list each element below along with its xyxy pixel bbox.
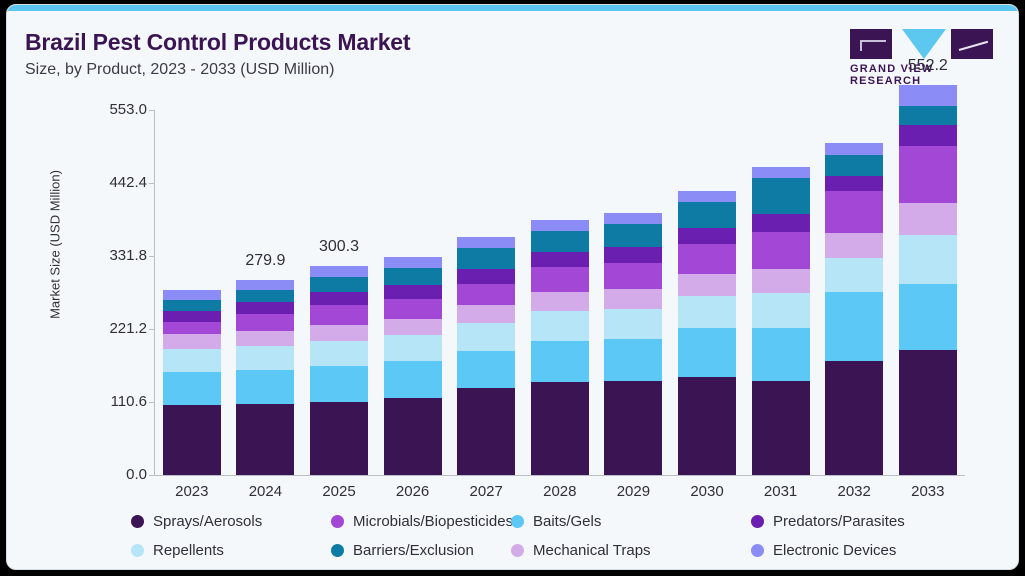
bar-segment[interactable] [531,382,589,475]
bar-segment[interactable] [236,280,294,290]
bar-segment[interactable] [457,351,515,388]
legend-item-label: Microbials/Biopesticides [353,513,513,530]
bar-segment[interactable] [752,232,810,268]
bar-segment[interactable] [678,274,736,296]
bar-segment[interactable] [457,248,515,269]
bar-segment[interactable] [752,293,810,328]
stacked-bar[interactable] [678,191,736,475]
bar-segment[interactable] [531,292,589,311]
bar-segment[interactable] [310,305,368,325]
bar-segment[interactable] [899,125,957,147]
chart-legend: Sprays/AerosolsRepellentsMicrobials/Biop… [131,513,931,567]
y-axis-tick-label: 110.6 [51,393,147,410]
bar-segment[interactable] [825,176,883,191]
bar-segment[interactable] [604,381,662,475]
bar-segment[interactable] [899,106,957,125]
bar-segment[interactable] [236,404,294,475]
bar-segment[interactable] [310,277,368,292]
bar-segment[interactable] [163,372,221,405]
legend-item[interactable]: Mechanical Traps [511,542,651,559]
legend-item[interactable]: Repellents [131,542,224,559]
bar-segment[interactable] [163,405,221,475]
legend-item[interactable]: Baits/Gels [511,513,601,530]
bar-segment[interactable] [163,290,221,300]
bar-segment[interactable] [899,146,957,203]
legend-color-swatch-icon [331,515,344,528]
bar-segment[interactable] [384,319,442,335]
x-axis-tick-label: 2033 [878,483,978,500]
bar-segment[interactable] [236,302,294,314]
bar-segment[interactable] [457,305,515,323]
legend-color-swatch-icon [751,544,764,557]
bar-segment[interactable] [457,388,515,475]
bar-segment[interactable] [457,237,515,248]
x-axis-line [154,475,965,476]
stacked-bar[interactable] [457,237,515,475]
stacked-bar[interactable] [236,280,294,475]
legend-item-label: Mechanical Traps [533,542,651,559]
y-axis-tick-mark [149,329,155,330]
legend-item-label: Repellents [153,542,224,559]
legend-item-label: Barriers/Exclusion [353,542,474,559]
bar-segment[interactable] [310,325,368,341]
legend-item[interactable]: Barriers/Exclusion [331,542,474,559]
legend-item[interactable]: Electronic Devices [751,542,896,559]
bar-segment[interactable] [310,266,368,277]
bar-segment[interactable] [604,309,662,339]
bar-segment[interactable] [236,346,294,370]
bar-segment[interactable] [604,224,662,247]
bar-segment[interactable] [384,257,442,268]
bar-segment[interactable] [752,214,810,232]
bar-segment[interactable] [163,349,221,372]
bar-segment[interactable] [752,167,810,178]
stacked-bar[interactable] [531,220,589,475]
bar-segment[interactable] [163,311,221,322]
chart-card: Brazil Pest Control Products Market Size… [6,4,1019,570]
y-axis-tick-mark [149,183,155,184]
bar-value-label: 552.2 [868,57,988,75]
bar-segment[interactable] [163,334,221,349]
bar-segment[interactable] [163,322,221,334]
legend-item[interactable]: Sprays/Aerosols [131,513,262,530]
bar-segment[interactable] [310,292,368,305]
bar-segment[interactable] [384,335,442,361]
bar-segment[interactable] [310,341,368,366]
bar-segment[interactable] [531,267,589,292]
y-axis-tick-label: 221.2 [51,320,147,337]
legend-color-swatch-icon [131,544,144,557]
bar-segment[interactable] [752,269,810,293]
bar-segment[interactable] [604,247,662,263]
bar-segment[interactable] [457,323,515,351]
y-axis-tick-mark [149,475,155,476]
stacked-bar[interactable] [384,257,442,475]
stacked-bar-chart: Market Size (USD Million) 0.0110.6221.23… [7,5,1018,569]
stacked-bar[interactable] [310,266,368,475]
bar-segment[interactable] [384,268,442,285]
y-axis-tick-label: 331.8 [51,247,147,264]
bar-segment[interactable] [604,213,662,224]
bar-segment[interactable] [825,155,883,176]
bar-segment[interactable] [825,143,883,155]
stacked-bar[interactable] [899,85,957,475]
legend-item-label: Predators/Parasites [773,513,905,530]
bar-segment[interactable] [384,398,442,475]
bar-segment[interactable] [163,300,221,311]
bar-segment[interactable] [678,377,736,475]
y-axis-tick-label: 0.0 [51,466,147,483]
legend-item-label: Baits/Gels [533,513,601,530]
bar-segment[interactable] [899,85,957,106]
bar-segment[interactable] [825,361,883,475]
bar-segment[interactable] [752,381,810,475]
stacked-bar[interactable] [604,213,662,475]
bar-segment[interactable] [899,284,957,350]
bar-segment[interactable] [531,220,589,231]
bar-segment[interactable] [678,296,736,328]
bar-segment[interactable] [236,290,294,302]
legend-color-swatch-icon [751,515,764,528]
y-axis-line [154,110,155,476]
bar-segment[interactable] [604,339,662,381]
stacked-bar[interactable] [163,290,221,475]
legend-item[interactable]: Predators/Parasites [751,513,905,530]
bar-segment[interactable] [678,202,736,228]
bar-segment[interactable] [236,314,294,331]
bar-segment[interactable] [604,263,662,289]
bar-segment[interactable] [531,231,589,252]
stacked-bar[interactable] [752,167,810,475]
bar-segment[interactable] [678,328,736,377]
bar-segment[interactable] [678,191,736,202]
bar-segment[interactable] [604,289,662,309]
bar-segment[interactable] [236,331,294,346]
bar-segment[interactable] [825,292,883,361]
bar-segment[interactable] [310,366,368,402]
bar-segment[interactable] [825,258,883,292]
legend-item-label: Electronic Devices [773,542,896,559]
legend-item-label: Sprays/Aerosols [153,513,262,530]
bar-segment[interactable] [825,191,883,233]
bar-segment[interactable] [384,285,442,299]
bar-segment[interactable] [384,299,442,319]
bar-segment[interactable] [752,328,810,381]
bar-segment[interactable] [899,203,957,235]
legend-color-swatch-icon [331,544,344,557]
legend-color-swatch-icon [511,515,524,528]
y-axis-tick-mark [149,256,155,257]
bar-segment[interactable] [457,269,515,284]
legend-item[interactable]: Microbials/Biopesticides [331,513,513,530]
bar-segment[interactable] [678,228,736,244]
bar-segment[interactable] [825,233,883,258]
legend-color-swatch-icon [131,515,144,528]
bar-segment[interactable] [236,370,294,404]
legend-color-swatch-icon [511,544,524,557]
bar-segment[interactable] [899,350,957,475]
bar-segment[interactable] [752,178,810,214]
y-axis-tick-mark [149,402,155,403]
bar-segment[interactable] [531,252,589,267]
bar-segment[interactable] [531,341,589,382]
bar-segment[interactable] [310,402,368,475]
bar-segment[interactable] [384,361,442,398]
bar-segment[interactable] [457,284,515,305]
bar-segment[interactable] [531,311,589,341]
bar-segment[interactable] [899,235,957,283]
y-axis-tick-label: 442.4 [51,174,147,191]
y-axis-tick-label: 553.0 [51,101,147,118]
bar-segment[interactable] [678,244,736,274]
y-axis-tick-mark [149,110,155,111]
bar-value-label: 300.3 [279,238,399,256]
stacked-bar[interactable] [825,143,883,475]
